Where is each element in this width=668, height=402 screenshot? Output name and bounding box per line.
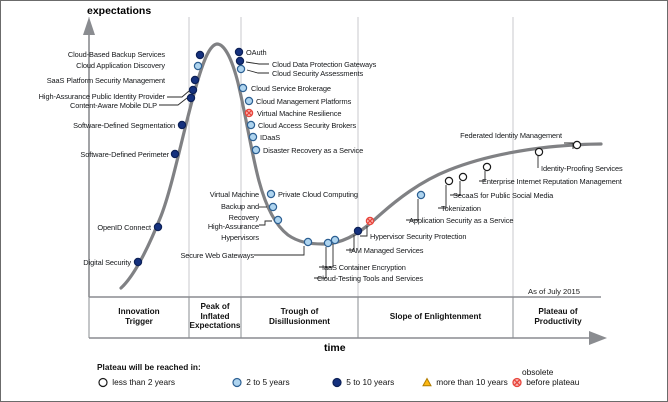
point-label-cloud-service-brokerage: Cloud Service Brokerage	[251, 84, 331, 93]
point-label-high-assurance-hypervisors-l1: High-Assurance	[179, 222, 259, 231]
point-label-private-cloud-computing: Private Cloud Computing	[278, 190, 358, 199]
data-point-marker[interactable]: Software-Defined Segmentation — 5 to 10 …	[178, 121, 185, 128]
data-point-marker[interactable]: Cloud-Testing Tools and Services — 2 to …	[324, 239, 331, 246]
point-label-digital-security: Digital Security	[1, 258, 131, 267]
point-label-tokenization: Tokenization	[441, 204, 481, 213]
data-point-marker[interactable]: SaaS Platform Security Management — 5 to…	[191, 76, 198, 83]
data-point-marker[interactable]: IDaaS — 2 to 5 years	[249, 133, 256, 140]
orange-triangle-icon	[421, 377, 434, 388]
data-point-marker[interactable]: Cloud Security Assessments — 2 to 5 year…	[237, 65, 244, 72]
data-point-marker[interactable]: Software-Defined Perimeter — 5 to 10 yea…	[171, 150, 178, 157]
data-point-marker[interactable]: Virtual Machine Backup and Recovery — 2 …	[269, 203, 276, 210]
point-label-iam-managed-services: IAM Managed Services	[349, 246, 423, 255]
legend-item-label: 5 to 10 years	[344, 377, 394, 387]
point-label-secure-web-gateways: Secure Web Gateways	[151, 251, 254, 260]
phase-line: Plateau of	[538, 307, 577, 316]
point-label-cloud-access-security-brokers: Cloud Access Security Brokers	[258, 121, 356, 130]
data-point-marker[interactable]: Cloud Management Platforms — 2 to 5 year…	[245, 97, 252, 104]
point-label-software-defined-perimeter: Software-Defined Perimeter	[1, 150, 169, 159]
point-label-cloud-based-backup-services: Cloud-Based Backup Services	[1, 50, 165, 59]
point-label-iaas-container-encryption: IaaS Container Encryption	[322, 263, 406, 272]
point-label-high-assurance-public-identity-provider: High-Assurance Public Identity Provider	[1, 92, 165, 101]
phase-trough-of-disillusionment: Trough of Disillusionment	[241, 307, 358, 326]
phase-line: Peak of	[200, 302, 229, 311]
data-point-marker[interactable]: Digital Security — 5 to 10 years	[134, 258, 141, 265]
legend-item-open-circle: less than 2 years	[97, 377, 175, 388]
point-label-cloud-testing-tools-and-services: Cloud-Testing Tools and Services	[317, 274, 423, 283]
data-point-marker[interactable]: Application Security as a Service — 2 to…	[417, 191, 424, 198]
data-point-marker[interactable]: IaaS Container Encryption — 2 to 5 years	[331, 236, 338, 243]
point-label-idaas: IDaaS	[260, 133, 280, 142]
dark-blue-circle-icon	[331, 377, 344, 388]
data-point-marker[interactable]: Cloud Access Security Brokers — 2 to 5 y…	[247, 121, 254, 128]
point-label-content-aware-mobile-dlp: Content-Aware Mobile DLP	[1, 101, 157, 110]
legend-item-label: before plateau	[524, 377, 579, 387]
data-point-marker[interactable]: Cloud Application Discovery — 2 to 5 yea…	[194, 62, 201, 69]
data-point-marker[interactable]: Identity-Proofing Services — less than 2…	[535, 148, 542, 155]
data-point-marker[interactable]: Cloud-Based Backup Services — 5 to 10 ye…	[196, 51, 203, 58]
x-axis-title: time	[324, 342, 346, 354]
phase-plateau-of-productivity: Plateau of Productivity	[513, 307, 603, 326]
point-label-federated-identity-management: Federated Identity Management	[431, 131, 562, 140]
legend-item-label: 2 to 5 years	[244, 377, 290, 387]
data-point-marker[interactable]: Secure Web Gateways — 2 to 5 years	[304, 238, 311, 245]
point-label-virtual-machine-backup-recovery-l1: Virtual Machine	[179, 190, 259, 199]
phase-line: Expectations	[190, 321, 241, 330]
data-point-marker[interactable]: Enterprise Internet Reputation Managemen…	[483, 163, 490, 170]
point-label-saas-platform-security-management: SaaS Platform Security Management	[1, 76, 165, 85]
legend-item-dark-blue-circle: 5 to 10 years	[331, 377, 394, 388]
y-axis-title: expectations	[87, 5, 151, 17]
point-label-application-security-as-a-service: Application Security as a Service	[409, 216, 513, 225]
data-point-marker[interactable]: Tokenization — less than 2 years	[445, 177, 452, 184]
legend-title: Plateau will be reached in:	[97, 362, 201, 372]
legend-item-label: less than 2 years	[110, 377, 175, 387]
data-point-marker[interactable]: Cloud Service Brokerage — 2 to 5 years	[239, 84, 246, 91]
legend-item-light-blue-circle: 2 to 5 years	[231, 377, 290, 388]
data-point-marker[interactable]: OAuth — 5 to 10 years	[235, 48, 242, 55]
point-label-secaas-for-public-social-media: SecaaS for Public Social Media	[453, 191, 553, 200]
point-label-oauth: OAuth	[246, 48, 266, 57]
data-point-marker[interactable]: High-Assurance Hypervisors — 2 to 5 year…	[274, 216, 281, 223]
phase-line: Trigger	[125, 317, 153, 326]
phase-innovation-trigger: Innovation Trigger	[89, 307, 189, 326]
phase-line: Productivity	[534, 317, 581, 326]
point-label-disaster-recovery-as-a-service: Disaster Recovery as a Service	[263, 146, 363, 155]
point-label-hypervisor-security-protection: Hypervisor Security Protection	[370, 232, 466, 241]
point-label-cloud-security-assessments: Cloud Security Assessments	[272, 69, 363, 78]
data-point-marker[interactable]: Cloud Data Protection Gateways — 5 to 10…	[236, 57, 243, 64]
phase-slope-of-enlightenment: Slope of Enlightenment	[358, 312, 513, 322]
phase-line: Inflated	[200, 312, 229, 321]
red-crossed-circle-icon	[511, 377, 524, 388]
phase-line: Innovation	[118, 307, 159, 316]
data-point-marker[interactable]: IAM Managed Services — 5 to 10 years	[354, 227, 361, 234]
data-point-marker[interactable]: Federated Identity Management — less tha…	[573, 141, 580, 148]
point-label-virtual-machine-resilience: Virtual Machine Resilience	[257, 109, 341, 118]
open-circle-icon	[97, 377, 110, 388]
point-label-cloud-management-platforms: Cloud Management Platforms	[256, 97, 351, 106]
data-point-marker[interactable]: Virtual Machine Resilience — obsolete be…	[245, 109, 252, 116]
legend-item-label: more than 10 years	[434, 377, 508, 387]
legend-item-red-crossed-circle: before plateau	[511, 377, 579, 388]
data-point-marker[interactable]: Disaster Recovery as a Service — 2 to 5 …	[252, 146, 259, 153]
legend-obsolete-caption: obsolete	[522, 367, 553, 377]
point-label-high-assurance-hypervisors-l2: Hypervisors	[179, 233, 259, 242]
data-point-marker[interactable]: SecaaS for Public Social Media — less th…	[459, 173, 466, 180]
point-label-virtual-machine-backup-recovery-l3: Recovery	[179, 213, 259, 222]
data-point-marker[interactable]: Content-Aware Mobile DLP — 5 to 10 years	[187, 94, 194, 101]
point-label-enterprise-internet-reputation-management: Enterprise Internet Reputation Managemen…	[482, 177, 622, 186]
phase-line: Disillusionment	[269, 317, 330, 326]
phase-peak-of-inflated-expectations: Peak of Inflated Expectations	[181, 302, 249, 331]
light-blue-circle-icon	[231, 377, 244, 388]
point-label-openid-connect: OpenID Connect	[1, 223, 151, 232]
point-label-virtual-machine-backup-recovery-l2: Backup and	[179, 202, 259, 211]
as-of-date: As of July 2015	[528, 287, 580, 296]
data-point-marker[interactable]: Hypervisor Security Protection — obsolet…	[366, 217, 373, 224]
phase-line: Trough of	[281, 307, 319, 316]
hype-cycle-figure: Digital Security — 5 to 10 yearsOpenID C…	[0, 0, 668, 402]
data-point-marker[interactable]: OpenID Connect — 5 to 10 years	[154, 223, 161, 230]
point-label-identity-proofing-services: Identity-Proofing Services	[541, 164, 623, 173]
point-label-cloud-data-protection-gateways: Cloud Data Protection Gateways	[272, 60, 376, 69]
point-label-software-defined-segmentation: Software-Defined Segmentation	[1, 121, 175, 130]
legend-item-orange-triangle: more than 10 years	[421, 377, 508, 388]
point-label-cloud-application-discovery: Cloud Application Discovery	[1, 61, 165, 70]
data-point-marker[interactable]: High-Assurance Public Identity Provider …	[189, 86, 196, 93]
data-point-marker[interactable]: Private Cloud Computing — 2 to 5 years	[267, 190, 274, 197]
